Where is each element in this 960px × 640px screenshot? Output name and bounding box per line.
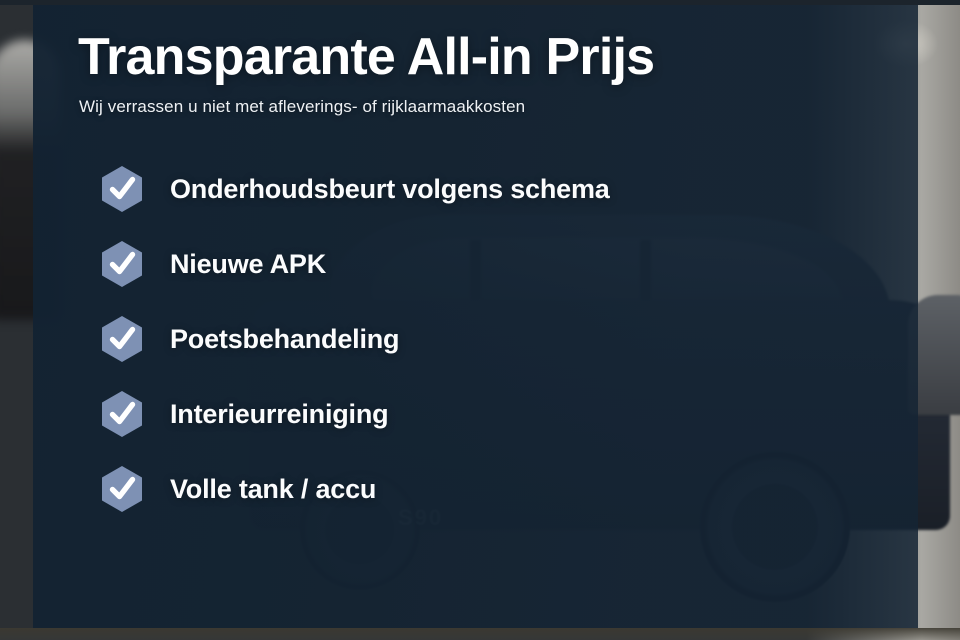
list-item-label: Interieurreiniging xyxy=(170,399,388,430)
check-hexagon-icon xyxy=(100,240,144,288)
list-item-label: Poetsbehandeling xyxy=(170,324,399,355)
list-item: Poetsbehandeling xyxy=(100,315,840,363)
list-item-label: Volle tank / accu xyxy=(170,474,376,505)
slide-content: Transparante All-in Prijs Wij verrassen … xyxy=(0,0,960,640)
slide-canvas: S90 Transparante All-in Prijs Wij verras… xyxy=(0,0,960,640)
page-title: Transparante All-in Prijs xyxy=(78,29,654,85)
list-item-label: Nieuwe APK xyxy=(170,249,326,280)
check-hexagon-icon xyxy=(100,465,144,513)
list-item: Nieuwe APK xyxy=(100,240,840,288)
list-item-label: Onderhoudsbeurt volgens schema xyxy=(170,174,610,205)
check-hexagon-icon xyxy=(100,165,144,213)
list-item: Interieurreiniging xyxy=(100,390,840,438)
page-subtitle: Wij verrassen u niet met afleverings- of… xyxy=(79,97,525,117)
feature-list: Onderhoudsbeurt volgens schema Nieuwe AP… xyxy=(100,165,840,540)
list-item: Volle tank / accu xyxy=(100,465,840,513)
check-hexagon-icon xyxy=(100,390,144,438)
list-item: Onderhoudsbeurt volgens schema xyxy=(100,165,840,213)
check-hexagon-icon xyxy=(100,315,144,363)
